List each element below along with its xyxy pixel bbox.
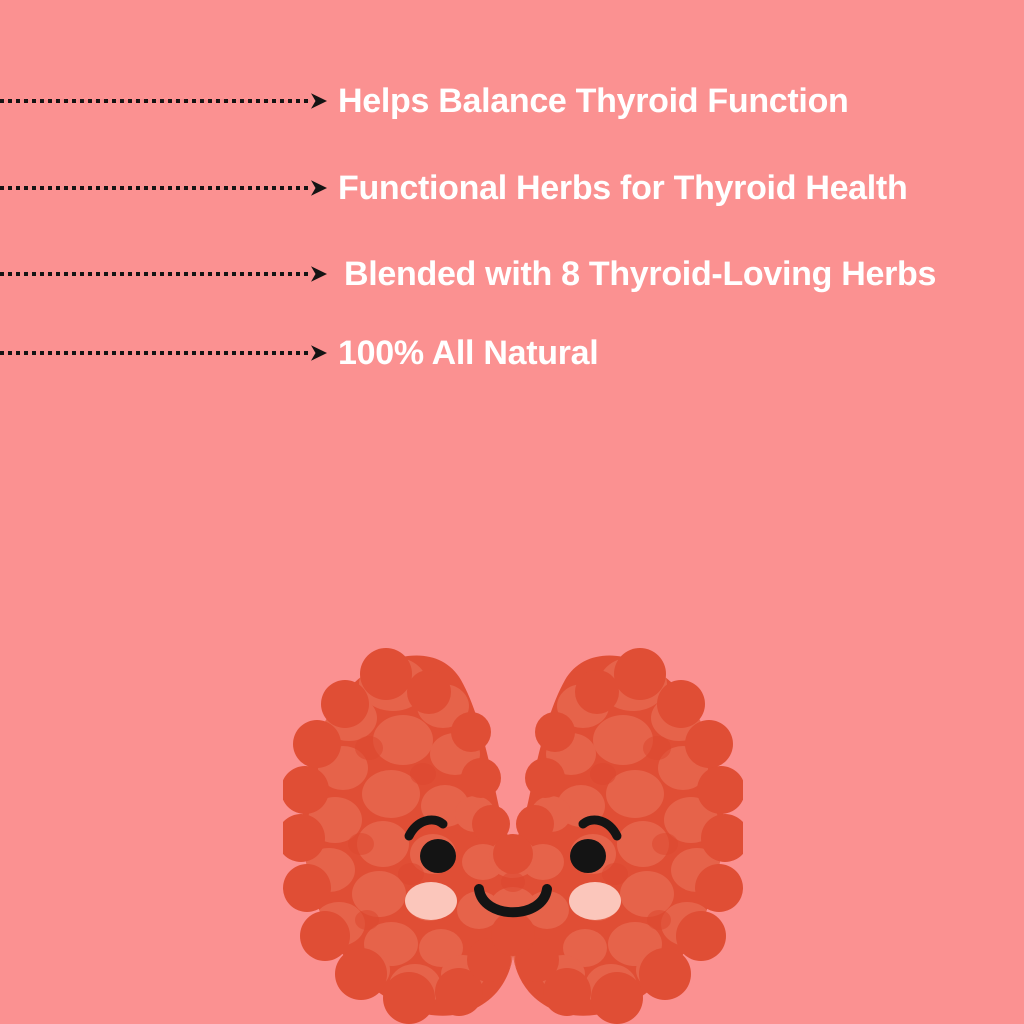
- dotted-line: [0, 99, 312, 103]
- benefit-label: Blended with 8 Thyroid-Loving Herbs: [332, 257, 936, 291]
- dotted-arrow-icon: [0, 339, 332, 367]
- arrow-head-icon: [310, 90, 330, 112]
- dotted-arrow-icon: [0, 87, 332, 115]
- benefit-item-0: Helps Balance Thyroid Function: [0, 73, 1024, 129]
- benefit-label: 100% All Natural: [332, 336, 598, 370]
- arrow-head-icon: [310, 177, 330, 199]
- dotted-line: [0, 351, 312, 355]
- benefit-item-1: Functional Herbs for Thyroid Health: [0, 160, 1024, 216]
- arrow-head-icon: [310, 263, 330, 285]
- eye-left: [420, 839, 456, 873]
- eye-right: [570, 839, 606, 873]
- dotted-line: [0, 272, 312, 276]
- dotted-line: [0, 186, 312, 190]
- arrow-head-icon: [310, 342, 330, 364]
- benefit-label: Helps Balance Thyroid Function: [332, 84, 849, 118]
- benefit-label: Functional Herbs for Thyroid Health: [332, 171, 907, 205]
- thyroid-gland-character-illustration: [283, 648, 743, 1024]
- dotted-arrow-icon: [0, 260, 332, 288]
- benefit-item-2: Blended with 8 Thyroid-Loving Herbs: [0, 246, 1024, 302]
- benefit-item-3: 100% All Natural: [0, 325, 1024, 381]
- dotted-arrow-icon: [0, 174, 332, 202]
